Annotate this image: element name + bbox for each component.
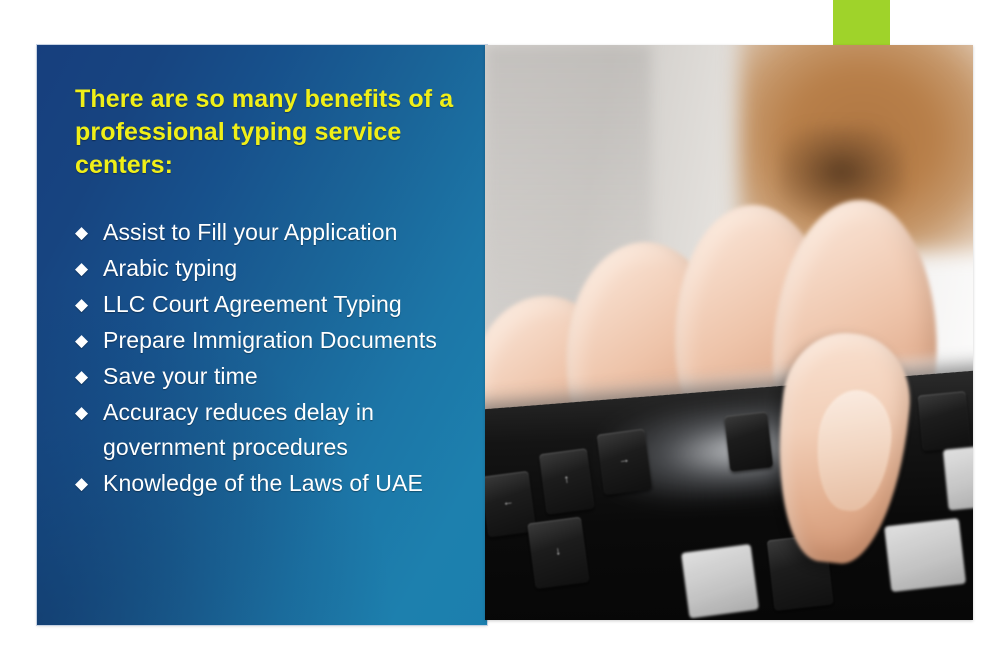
list-item: ◆ LLC Court Agreement Typing xyxy=(75,287,469,322)
arrow-up-icon: ↑ xyxy=(563,474,570,486)
keyboard-key-highlight xyxy=(943,445,973,511)
slide-headline: There are so many benefits of a professi… xyxy=(75,83,465,181)
keyboard-key: ↑ xyxy=(539,448,595,515)
benefits-list: ◆ Assist to Fill your Application ◆ Arab… xyxy=(75,215,469,501)
keyboard-key xyxy=(725,412,774,472)
list-item-label: Save your time xyxy=(103,359,463,394)
list-item: ◆ Arabic typing xyxy=(75,251,469,286)
list-item: ◆ Assist to Fill your Application xyxy=(75,215,469,250)
diamond-bullet-icon: ◆ xyxy=(75,287,103,322)
typing-hand-photo: ← ↑ → ↓ xyxy=(485,45,973,620)
list-item: ◆ Save your time xyxy=(75,359,469,394)
diamond-bullet-icon: ◆ xyxy=(75,251,103,286)
keyboard-key-highlight xyxy=(884,518,966,592)
arrow-left-icon: ← xyxy=(503,496,515,508)
diamond-bullet-icon: ◆ xyxy=(75,395,103,430)
list-item-label: Knowledge of the Laws of UAE xyxy=(103,466,463,501)
keyboard-key xyxy=(918,391,971,451)
list-item: ◆ Prepare Immigration Documents xyxy=(75,323,469,358)
diamond-bullet-icon: ◆ xyxy=(75,323,103,358)
blue-content-panel: There are so many benefits of a professi… xyxy=(37,45,487,625)
arrow-right-icon: → xyxy=(618,454,630,466)
keyboard-key: ↓ xyxy=(528,517,590,589)
diamond-bullet-icon: ◆ xyxy=(75,215,103,250)
keyboard-key: → xyxy=(597,428,653,495)
panel-inner: There are so many benefits of a professi… xyxy=(37,45,487,522)
list-item-label: Accuracy reduces delay in government pro… xyxy=(103,395,463,465)
list-item-label: Prepare Immigration Documents xyxy=(103,323,463,358)
list-item-label: Assist to Fill your Application xyxy=(103,215,463,250)
slide-canvas: There are so many benefits of a professi… xyxy=(0,0,1000,650)
list-item-label: LLC Court Agreement Typing xyxy=(103,287,463,322)
diamond-bullet-icon: ◆ xyxy=(75,359,103,394)
list-item-label: Arabic typing xyxy=(103,251,463,286)
keyboard-key-highlight xyxy=(681,544,759,618)
list-item: ◆ Knowledge of the Laws of UAE xyxy=(75,466,469,501)
list-item: ◆ Accuracy reduces delay in government p… xyxy=(75,395,469,465)
diamond-bullet-icon: ◆ xyxy=(75,466,103,501)
arrow-down-icon: ↓ xyxy=(555,546,562,558)
green-accent-bar xyxy=(833,0,890,46)
